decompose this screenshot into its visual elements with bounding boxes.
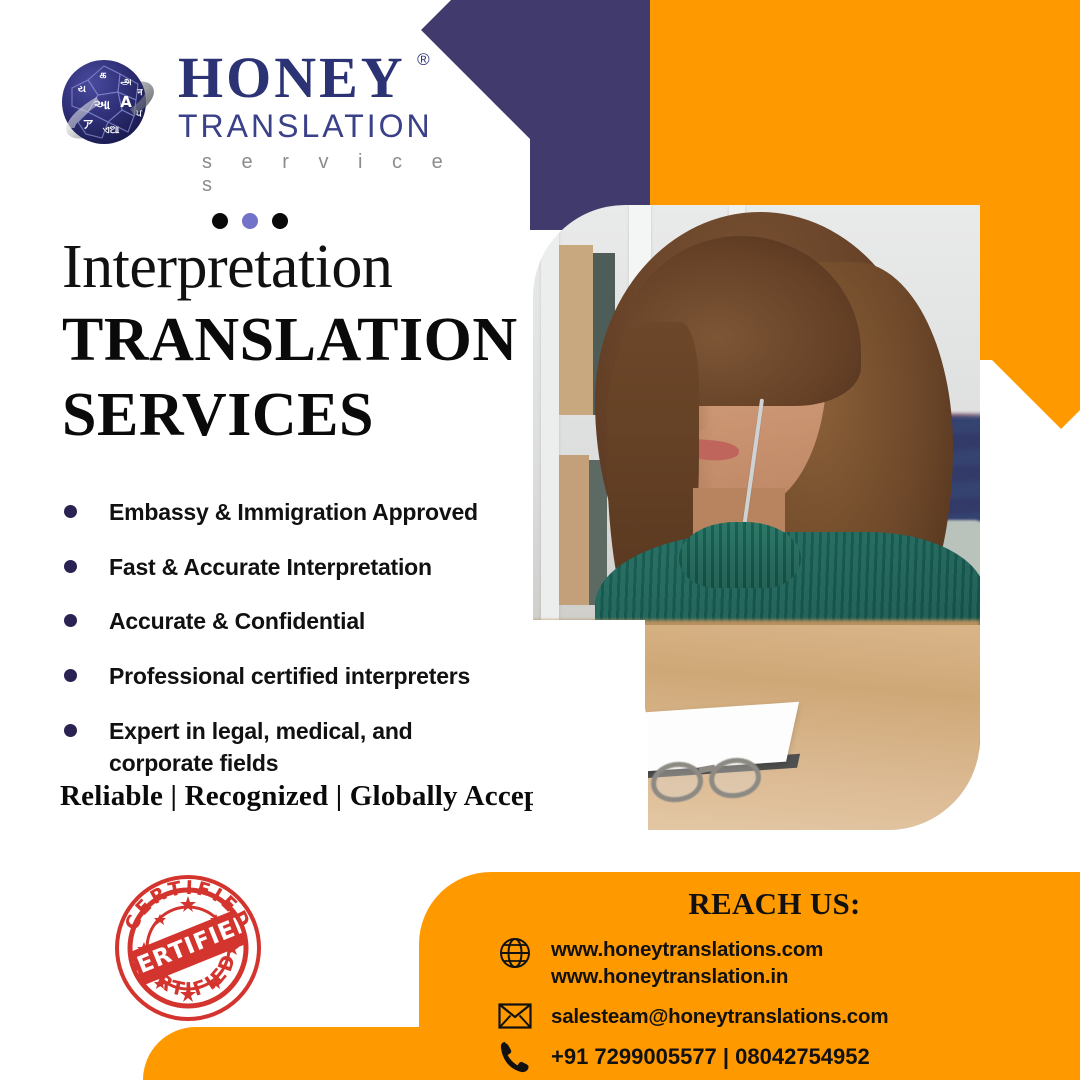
list-item: Fast & Accurate Interpretation (56, 551, 526, 584)
svg-text:ଏଆ: ଏଆ (103, 125, 120, 136)
eyeglasses (651, 758, 781, 804)
svg-text:A: A (120, 93, 132, 111)
eyeglass-lens (648, 759, 705, 806)
phone-numbers[interactable]: +91 7299005577 | 08042754952 (551, 1042, 870, 1071)
svg-text:ア: ア (83, 118, 94, 131)
svg-text:அ: அ (120, 76, 131, 87)
logo-wordmark-text: HONEY (178, 45, 406, 110)
headline-line2: SERVICES (62, 382, 532, 449)
email-link[interactable]: salesteam@honeytranslations.com (551, 1003, 888, 1030)
list-item: Expert in legal, medical, and corporate … (56, 715, 526, 780)
tagline: Reliable | Recognized | Globally Accepte… (60, 780, 580, 813)
list-item: Professional certified interpreters (56, 660, 526, 693)
certified-stamp-icon: CERTIFIED CERTIFIED CERTIFI (108, 868, 268, 1028)
website-link-1[interactable]: www.honeytranslations.com (551, 936, 823, 963)
globe-icon (495, 936, 535, 970)
bullet-icon (64, 614, 77, 627)
bullet-icon (64, 669, 77, 682)
decorative-dots (212, 213, 472, 229)
globe-languages-icon: க அ न ય આ A ਪ ア ଏଆ (52, 50, 164, 162)
svg-text:न: न (137, 88, 144, 98)
list-item-label: Accurate & Confidential (109, 605, 365, 638)
list-item: Accurate & Confidential (56, 605, 526, 638)
headline-block: Interpretation TRANSLATION SERVICES (62, 236, 532, 449)
feature-list: Embassy & Immigration Approved Fast & Ac… (56, 496, 526, 802)
headline-script: Interpretation (62, 236, 532, 299)
phone-icon (495, 1040, 535, 1074)
list-item-label: Fast & Accurate Interpretation (109, 551, 432, 584)
headline-line1: TRANSLATION (62, 307, 532, 374)
contact-email-row[interactable]: salesteam@honeytranslations.com (495, 1003, 1080, 1030)
list-item-label: Embassy & Immigration Approved (109, 496, 478, 529)
contact-heading: REACH US: (419, 872, 1080, 922)
contact-phone-row[interactable]: +91 7299005577 | 08042754952 (495, 1040, 1080, 1074)
website-link-2[interactable]: www.honeytranslation.in (551, 963, 823, 990)
website-links[interactable]: www.honeytranslations.com www.honeytrans… (551, 936, 823, 991)
logo-tertiary: s e r v i c e s (178, 151, 472, 197)
turtleneck-collar (679, 522, 801, 588)
bullet-icon (64, 560, 77, 573)
svg-text:ય: ય (78, 84, 87, 95)
svg-text:க: க (99, 68, 106, 81)
logo-subtitle: TRANSLATION (178, 108, 472, 145)
envelope-icon (495, 1003, 535, 1029)
dot-dark-icon (212, 213, 228, 229)
eyeglass-lens (706, 755, 763, 802)
contact-block: REACH US: www.honeytranslations.com www.… (419, 872, 1080, 1080)
brand-logo: க அ न ય આ A ਪ ア ଏଆ HONEY ® (52, 46, 472, 229)
logo-wordmark: HONEY ® (178, 50, 406, 106)
list-item: Embassy & Immigration Approved (56, 496, 526, 529)
flyer-canvas: க அ न ય આ A ਪ ア ଏଆ HONEY ® (0, 0, 1080, 1080)
dot-accent-icon (242, 213, 258, 229)
list-item-label: Expert in legal, medical, and corporate … (109, 715, 459, 780)
bookshelf-post (541, 205, 559, 635)
registered-trademark-icon: ® (417, 52, 430, 68)
bullet-icon (64, 505, 77, 518)
list-item-label: Professional certified interpreters (109, 660, 470, 693)
bullet-icon (64, 724, 77, 737)
dot-dark-icon (272, 213, 288, 229)
contact-website-row[interactable]: www.honeytranslations.com www.honeytrans… (495, 936, 1080, 991)
